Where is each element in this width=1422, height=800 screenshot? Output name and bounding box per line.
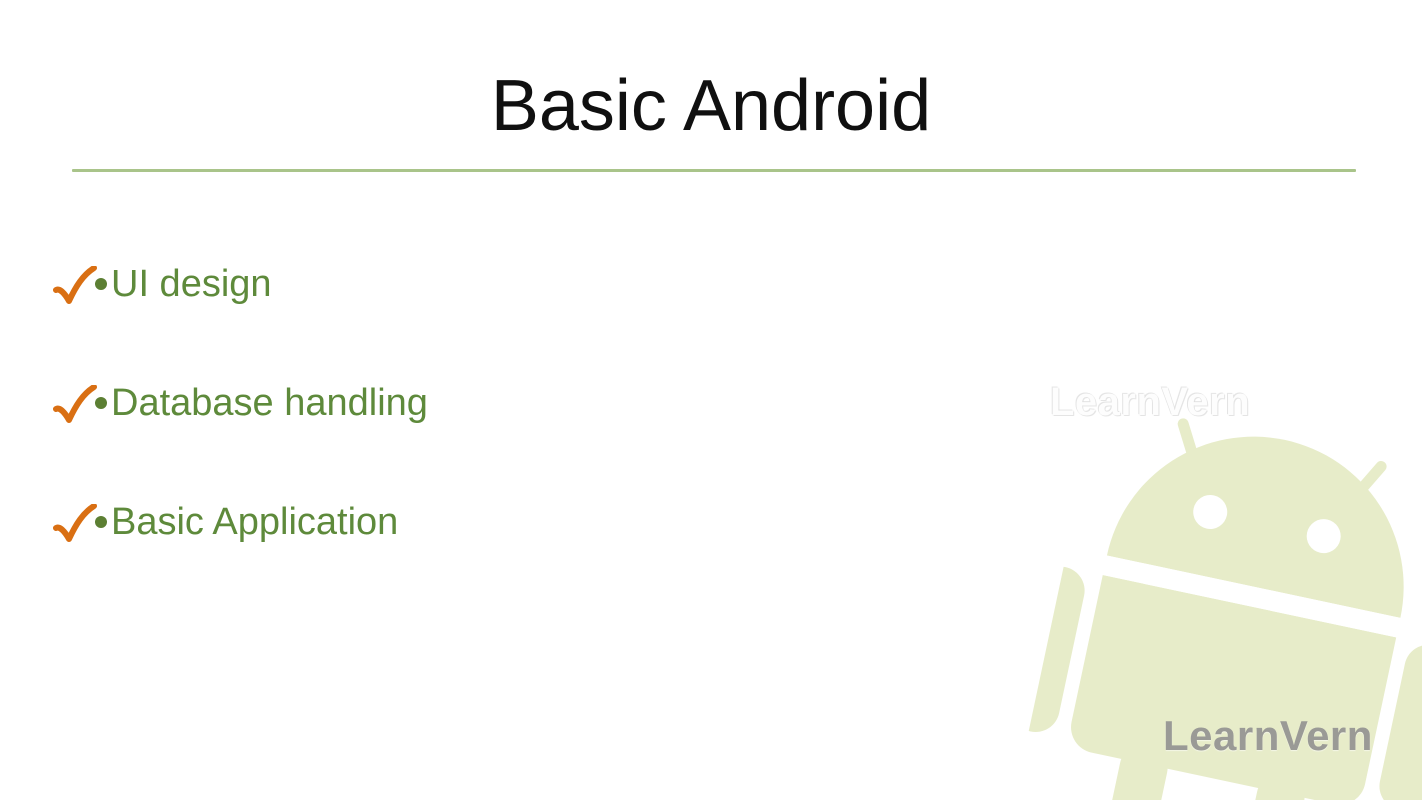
bullet-dot-icon [95, 278, 107, 290]
list-item-label: UI design [111, 262, 272, 306]
orange-check-icon [52, 266, 100, 310]
bullet-list: UI design Database handling Basic Applic… [52, 262, 952, 619]
title-divider [72, 169, 1356, 172]
orange-check-icon [52, 504, 100, 548]
list-item: UI design [52, 262, 952, 381]
learnvern-watermark: LearnVern [1050, 380, 1250, 425]
list-item-label: Basic Application [111, 500, 398, 544]
learnvern-wordmark: LearnVern [1163, 712, 1373, 760]
bullet-dot-icon [95, 397, 107, 409]
list-item-label: Database handling [111, 381, 428, 425]
bullet-dot-icon [95, 516, 107, 528]
slide-canvas: Basic Android UI design Database handlin… [0, 0, 1422, 800]
list-item: Basic Application [52, 500, 952, 619]
orange-check-icon [52, 385, 100, 429]
page-title: Basic Android [0, 70, 1422, 142]
list-item: Database handling [52, 381, 952, 500]
